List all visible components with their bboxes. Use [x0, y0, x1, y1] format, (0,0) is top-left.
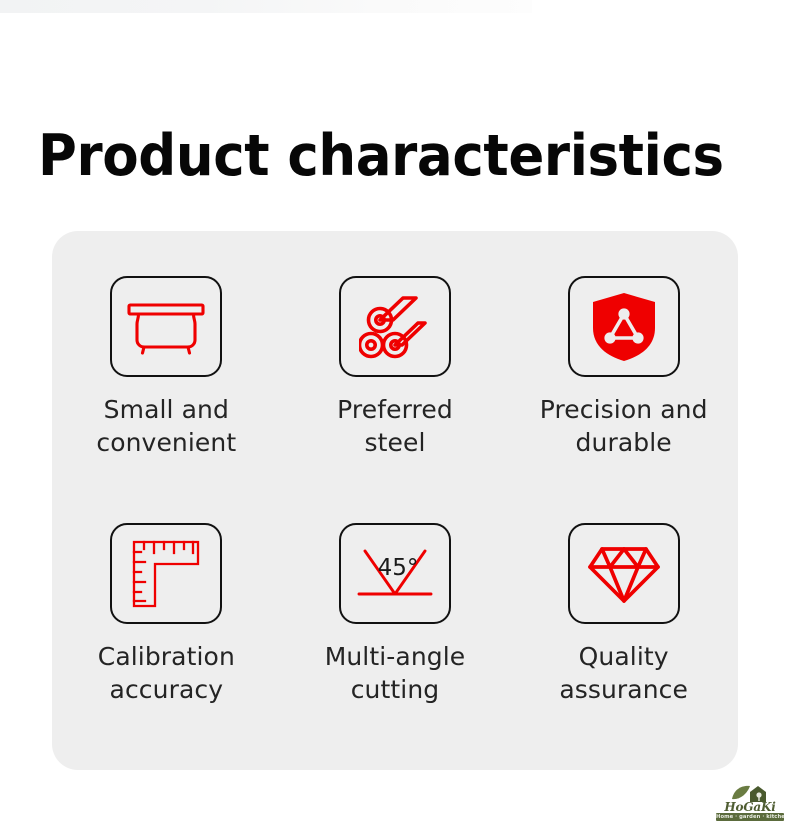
feature-label-line-2: durable	[576, 428, 672, 457]
feature-item-calibration-accuracy[interactable]: Calibration accuracy	[52, 523, 281, 707]
carpenter-square-ruler-icon	[110, 523, 222, 624]
feature-label-line-1: Precision and	[540, 395, 708, 424]
page-title: Product characteristics	[38, 126, 724, 186]
brand-logo: HoGaKi Home · garden · kitchen	[716, 783, 784, 821]
feature-label-line-2: assurance	[559, 675, 688, 704]
brand-name: HoGaKi	[716, 801, 784, 813]
angle-value-text: 45°	[378, 555, 419, 581]
feature-label-line-2: steel	[364, 428, 425, 457]
feature-item-multi-angle-cutting[interactable]: 45° Multi-angle cutting	[281, 523, 510, 707]
feature-label-line-1: Small and	[104, 395, 229, 424]
feature-label: Multi-angle cutting	[325, 640, 466, 707]
feature-label-line-1: Quality	[579, 642, 669, 671]
feature-card-panel: Small and convenient	[52, 231, 738, 770]
feature-item-small-and-convenient[interactable]: Small and convenient	[52, 276, 281, 460]
folding-table-icon	[110, 276, 222, 377]
feature-label-line-1: Calibration	[98, 642, 235, 671]
brand-tagline: Home · garden · kitchen	[716, 813, 784, 821]
feature-label-line-2: cutting	[351, 675, 440, 704]
feature-item-preferred-steel[interactable]: Preferred steel	[281, 276, 510, 460]
feature-label: Preferred steel	[337, 393, 453, 460]
feature-label-line-1: Preferred	[337, 395, 453, 424]
top-edge-artifact-band	[0, 0, 532, 13]
feature-label: Quality assurance	[559, 640, 688, 707]
feature-label: Calibration accuracy	[98, 640, 235, 707]
feature-label-line-2: accuracy	[110, 675, 224, 704]
feature-label-line-2: convenient	[96, 428, 236, 457]
diamond-gem-icon	[568, 523, 680, 624]
shield-precision-icon	[568, 276, 680, 377]
steel-tubes-icon	[339, 276, 451, 377]
feature-grid: Small and convenient	[52, 231, 738, 770]
feature-label-line-1: Multi-angle	[325, 642, 466, 671]
feature-label: Small and convenient	[96, 393, 236, 460]
feature-item-quality-assurance[interactable]: Quality assurance	[509, 523, 738, 707]
feature-item-precision-and-durable[interactable]: Precision and durable	[509, 276, 738, 460]
angle-45-degree-icon: 45°	[339, 523, 451, 624]
feature-label: Precision and durable	[540, 393, 708, 460]
